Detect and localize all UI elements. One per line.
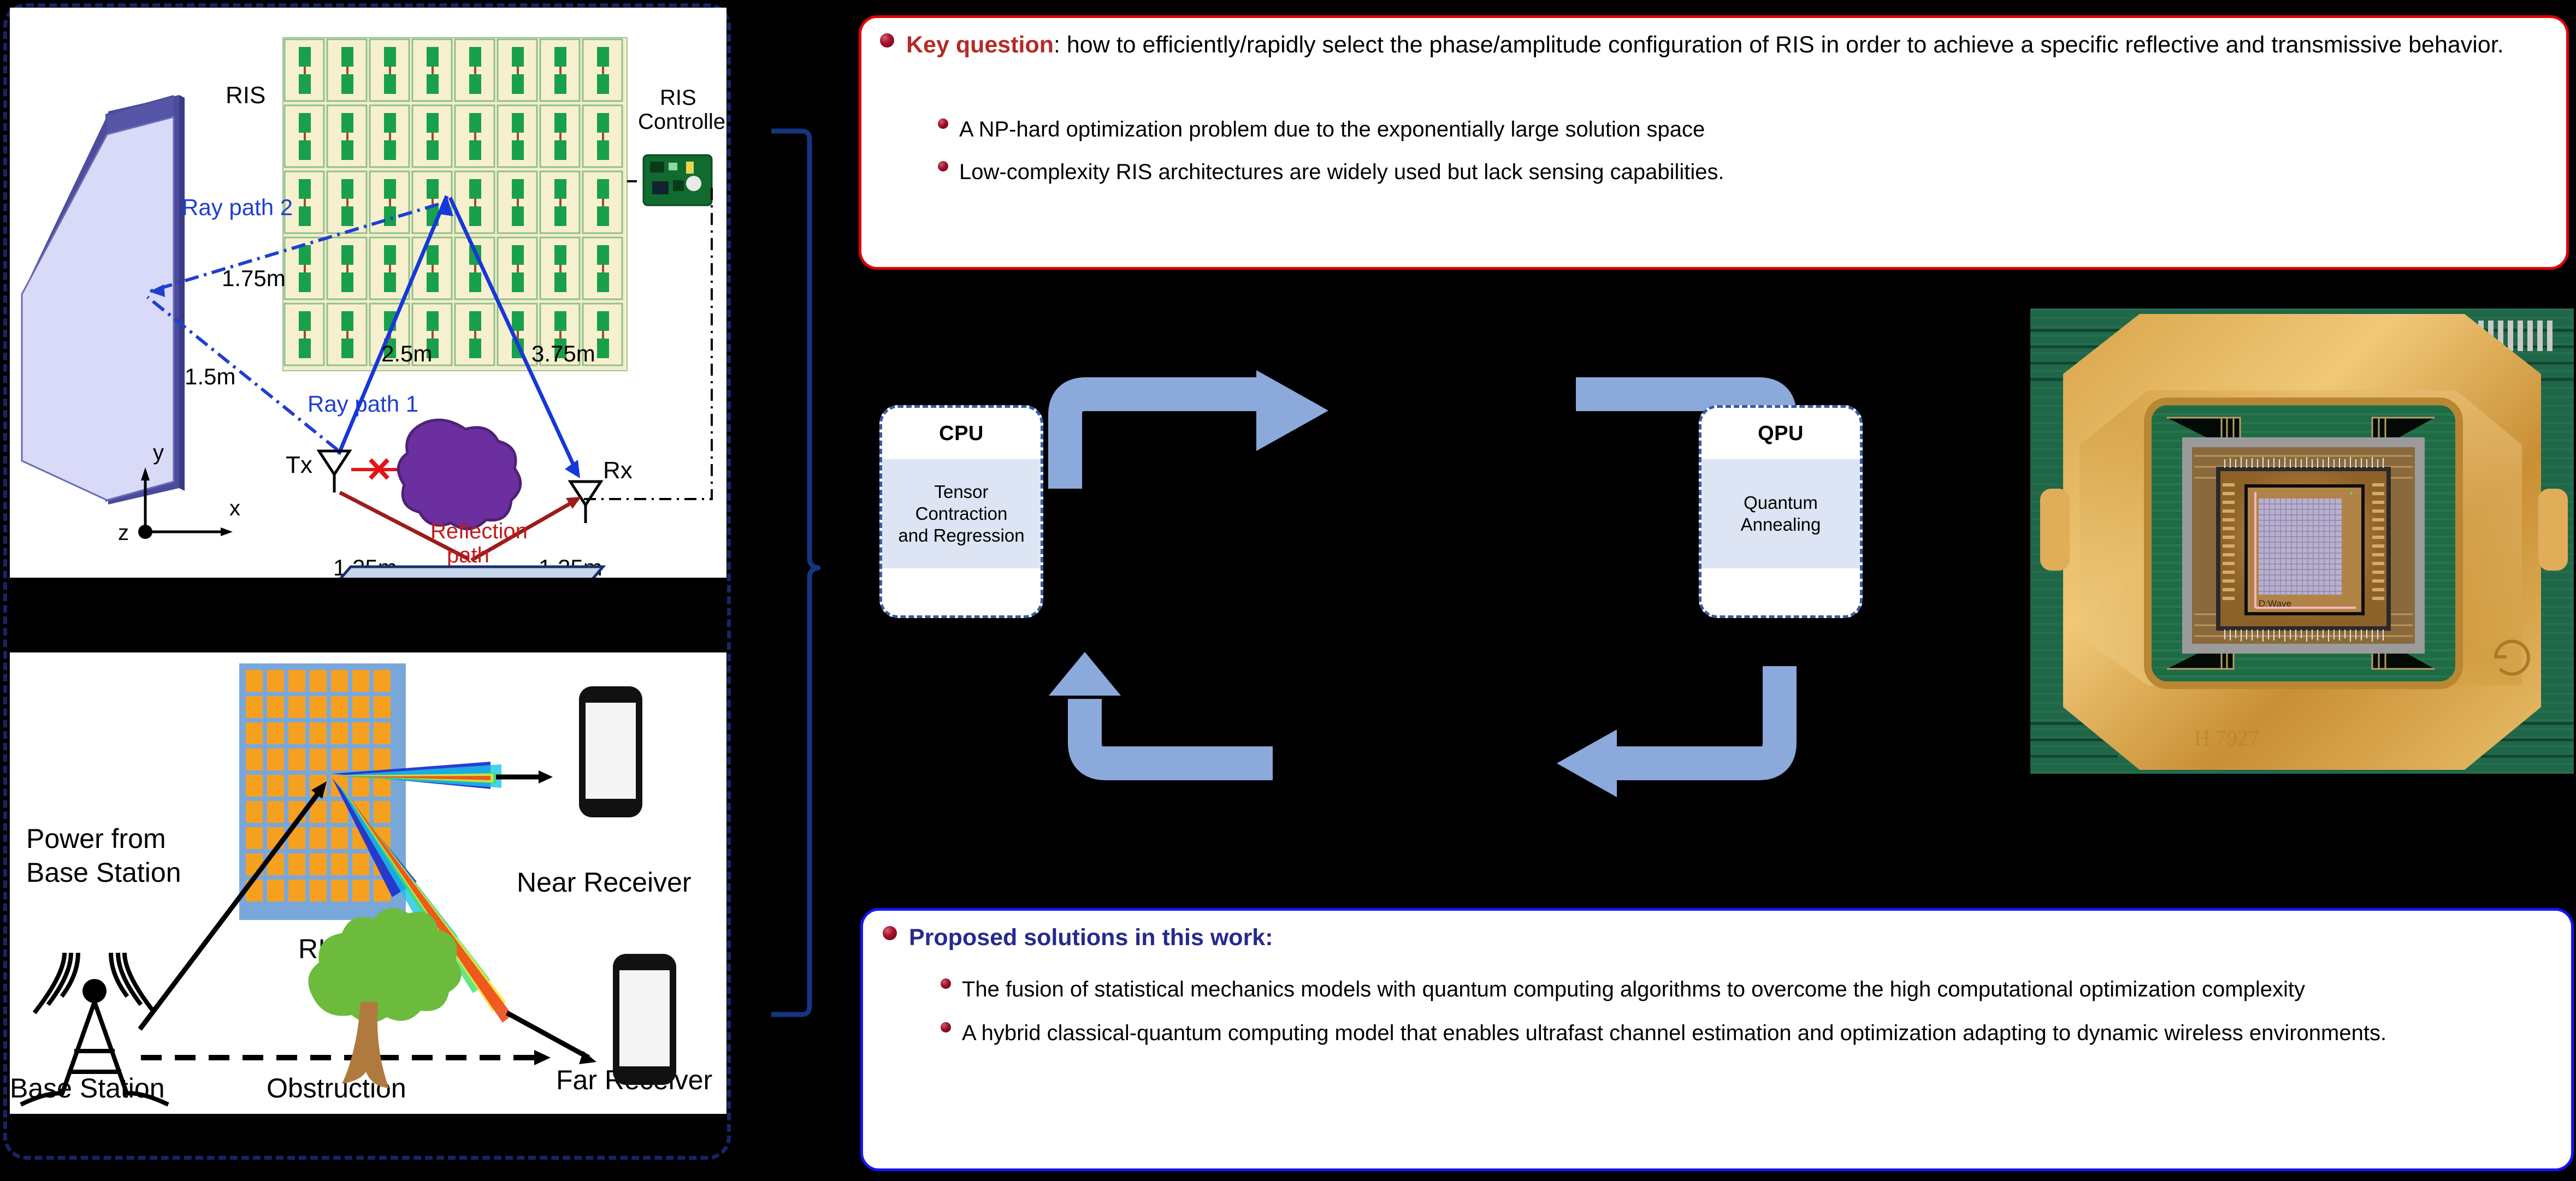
label-near-receiver: Near Receiver bbox=[517, 867, 692, 898]
ris-setup-svg: RIS RIS Controller Ray path 2 Ray path 1… bbox=[10, 8, 726, 578]
chip-brand-label: D:Wave bbox=[2259, 598, 2291, 609]
bullet-sphere-icon bbox=[883, 926, 897, 940]
figure-ris-setup: RIS RIS Controller Ray path 2 Ray path 1… bbox=[10, 8, 726, 578]
mount-tab-right bbox=[2538, 489, 2568, 571]
bullet-sphere-icon bbox=[938, 118, 948, 129]
svg-text:H 7927: H 7927 bbox=[2194, 726, 2259, 750]
key-question-sub-1: A NP-hard optimization problem due to th… bbox=[959, 115, 1705, 144]
frame-engraving: H 7927 bbox=[2194, 726, 2259, 750]
label-ris-controller-1: RIS bbox=[660, 86, 696, 110]
ris-panel-cells bbox=[246, 670, 391, 901]
bullet-sphere-icon bbox=[941, 1022, 951, 1032]
phone-far-receiver bbox=[613, 954, 676, 1085]
label-1-75m: 1.75m bbox=[222, 265, 286, 291]
svg-text:x: x bbox=[229, 496, 240, 520]
cpu-qpu-loop-diagram: CPU Tensor Contractionand Regression QPU… bbox=[885, 360, 2032, 797]
label-3-75m: 3.75m bbox=[531, 341, 595, 366]
qpu-body-band: Quantum Annealing bbox=[1701, 459, 1860, 568]
key-question-lead-text: Key question: how to efficiently/rapidly… bbox=[906, 30, 2504, 61]
label-ray-path-2: Ray path 2 bbox=[182, 194, 293, 220]
key-question-sub-bullets: A NP-hard optimization problem due to th… bbox=[938, 115, 2544, 200]
cpu-title: CPU bbox=[882, 422, 1041, 446]
proposed-sub-bullets: The fusion of statistical mechanics mode… bbox=[941, 975, 2551, 1063]
proposed-lead-text: Proposed solutions in this work: bbox=[909, 923, 1273, 953]
tx-antenna: Tx bbox=[286, 451, 350, 492]
key-question-title: Key question bbox=[906, 32, 1054, 58]
key-question-lead-rest: : how to efficiently/rapidly select the … bbox=[1054, 32, 2504, 58]
mount-tab-left bbox=[2040, 489, 2070, 571]
svg-text:y: y bbox=[153, 441, 164, 465]
svg-text:z: z bbox=[118, 521, 129, 545]
figure-ris-coverage: Power from Base Station RIS Near Receive… bbox=[10, 652, 726, 1114]
bullet-sphere-icon bbox=[938, 161, 948, 171]
rx-antenna: Rx bbox=[570, 457, 633, 523]
svg-text:Rx: Rx bbox=[603, 457, 633, 484]
proposed-lead-rest: : bbox=[1265, 924, 1273, 951]
key-question-callout: Key question: how to efficiently/rapidly… bbox=[859, 15, 2569, 270]
key-question-sub-2: Low-complexity RIS architectures are wid… bbox=[959, 158, 1724, 186]
label-ris: RIS bbox=[226, 82, 265, 109]
label-ris-controller-2: Controller bbox=[638, 110, 726, 134]
bullet-sphere-icon bbox=[880, 33, 894, 48]
list-item: The fusion of statistical mechanics mode… bbox=[941, 975, 2551, 1004]
cpu-body-band: Tensor Contractionand Regression bbox=[882, 459, 1041, 568]
cpu-body-text: Tensor Contractionand Regression bbox=[882, 481, 1041, 547]
label-power-2: Base Station bbox=[26, 857, 181, 888]
proposed-lead-bullet: Proposed solutions in this work: bbox=[883, 923, 2551, 953]
qpu-title: QPU bbox=[1701, 422, 1860, 446]
proposed-solutions-callout: Proposed solutions in this work: The fus… bbox=[860, 908, 2574, 1171]
label-2-5m: 2.5m bbox=[381, 341, 432, 366]
quantum-processor-photo: D:Wave H 7927 bbox=[2030, 308, 2574, 774]
label-reflection-1: Reflection bbox=[430, 519, 528, 543]
proposed-title: Proposed solutions in this work bbox=[909, 924, 1265, 951]
qpu-box: QPU Quantum Annealing bbox=[1699, 405, 1863, 618]
axis-origin-z bbox=[138, 525, 152, 539]
ris-coverage-svg: Power from Base Station RIS Near Receive… bbox=[10, 652, 726, 1114]
ground-slab bbox=[338, 567, 603, 578]
grouping-brace bbox=[759, 127, 836, 1028]
key-question-lead-bullet: Key question: how to efficiently/rapidly… bbox=[880, 30, 2547, 61]
chip-photo-svg: D:Wave H 7927 bbox=[2030, 308, 2574, 774]
proposed-sub-1: The fusion of statistical mechanics mode… bbox=[962, 975, 2305, 1004]
ris-controller-board bbox=[643, 155, 712, 205]
obstruction-blob bbox=[398, 420, 520, 529]
arrow-to-far-rx bbox=[507, 1013, 589, 1058]
label-power-1: Power from bbox=[26, 823, 166, 854]
svg-text:Tx: Tx bbox=[286, 452, 312, 478]
phone-near-receiver bbox=[579, 686, 642, 817]
list-item: A NP-hard optimization problem due to th… bbox=[938, 115, 2544, 144]
proposed-sub-2: A hybrid classical-quantum computing mod… bbox=[962, 1019, 2386, 1047]
label-1-5m: 1.5m bbox=[185, 364, 235, 389]
qpu-body-text: Quantum Annealing bbox=[1701, 492, 1860, 536]
list-item: A hybrid classical-quantum computing mod… bbox=[941, 1019, 2551, 1047]
list-item: Low-complexity RIS architectures are wid… bbox=[938, 158, 2544, 186]
label-reflection-2: path bbox=[447, 543, 489, 567]
bullet-sphere-icon bbox=[941, 978, 951, 989]
cpu-box: CPU Tensor Contractionand Regression bbox=[879, 405, 1043, 618]
